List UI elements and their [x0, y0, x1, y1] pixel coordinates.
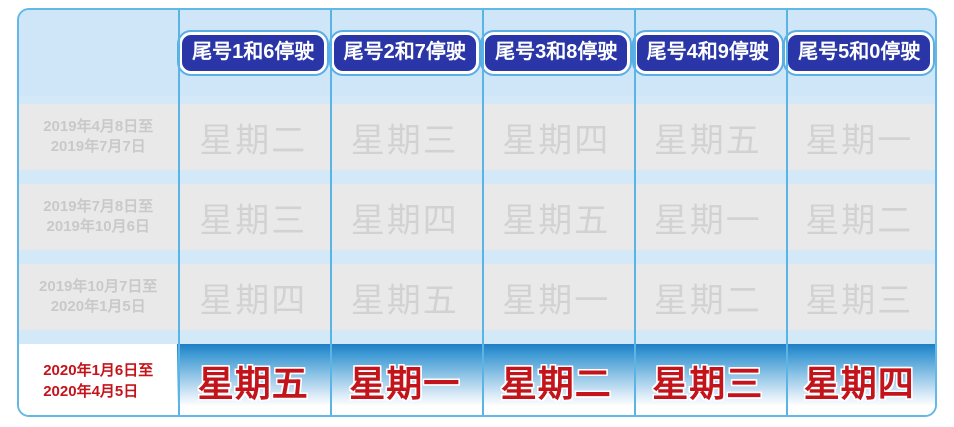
day-text: 星期四	[351, 193, 459, 242]
day-text: 星期三	[652, 355, 763, 407]
column-separator-2	[330, 10, 332, 417]
day-text: 星期二	[199, 113, 307, 162]
day-text: 星期一	[654, 193, 762, 242]
day-cell: 星期四	[177, 264, 329, 330]
row-period-cell: 2019年7月8日至 2019年10月6日	[19, 184, 177, 250]
day-text: 星期五	[654, 113, 762, 162]
day-text: 星期二	[654, 273, 762, 322]
day-cell: 星期五	[632, 104, 784, 170]
day-cell: 星期一	[632, 184, 784, 250]
day-text: 星期三	[199, 193, 307, 242]
day-cell: 星期二	[783, 184, 935, 250]
day-text: 星期四	[502, 113, 610, 162]
header-cell-group-5: 尾号5和0停驶	[783, 10, 935, 96]
day-text: 星期二	[501, 355, 612, 407]
day-text: 星期三	[805, 273, 913, 322]
row-period-text: 2020年1月6日至 2020年4月5日	[43, 360, 153, 402]
period-line-1: 2019年4月8日至	[43, 118, 153, 135]
day-cell: 星期三	[177, 184, 329, 250]
day-text: 星期一	[805, 113, 913, 162]
tail-number-badge-5[interactable]: 尾号5和0停驶	[785, 32, 933, 74]
day-text: 星期五	[198, 355, 309, 407]
day-cell: 星期一	[783, 104, 935, 170]
day-cell: 星期四	[329, 184, 481, 250]
day-cell: 星期二	[177, 104, 329, 170]
day-cell: 星期五	[329, 264, 481, 330]
day-text: 星期四	[199, 273, 307, 322]
period-line-1: 2020年1月6日至	[43, 362, 153, 379]
tail-number-badge-3[interactable]: 尾号3和8停驶	[482, 32, 630, 74]
day-cell-current: 星期五	[177, 344, 329, 417]
day-cell: 星期二	[632, 264, 784, 330]
table-row-current: 2020年1月6日至 2020年4月5日 星期五 星期一 星期二 星期三 星期四	[19, 344, 935, 417]
day-text: 星期二	[805, 193, 913, 242]
restriction-schedule-table: 尾号1和6停驶 尾号2和7停驶 尾号3和8停驶 尾号4和9停驶 尾号5和0停驶	[17, 8, 937, 417]
day-text: 星期五	[502, 193, 610, 242]
tail-number-badge-4[interactable]: 尾号4和9停驶	[634, 32, 782, 74]
header-cell-group-1: 尾号1和6停驶	[177, 10, 329, 96]
row-period-text: 2019年4月8日至 2019年7月7日	[43, 117, 153, 158]
row-period-cell-current: 2020年1月6日至 2020年4月5日	[19, 344, 177, 417]
day-cell: 星期一	[480, 264, 632, 330]
day-cell: 星期五	[480, 184, 632, 250]
screenshot-root: 尾号1和6停驶 尾号2和7停驶 尾号3和8停驶 尾号4和9停驶 尾号5和0停驶	[0, 0, 954, 427]
period-line-1: 2019年10月7日至	[39, 278, 157, 295]
column-separator-1	[178, 10, 180, 417]
day-text: 星期一	[349, 355, 460, 407]
header-cell-group-4: 尾号4和9停驶	[632, 10, 784, 96]
period-line-2: 2020年1月5日	[51, 298, 146, 315]
column-separator-5	[786, 10, 788, 417]
period-line-2: 2019年7月7日	[51, 138, 146, 155]
table-row: 2019年10月7日至 2020年1月5日 星期四 星期五 星期一 星期二 星期…	[19, 264, 935, 330]
table-row: 2019年7月8日至 2019年10月6日 星期三 星期四 星期五 星期一 星期…	[19, 184, 935, 250]
day-text: 星期三	[351, 113, 459, 162]
column-separator-3	[482, 10, 484, 417]
day-cell-current: 星期一	[329, 344, 481, 417]
period-line-1: 2019年7月8日至	[43, 198, 153, 215]
day-cell: 星期四	[480, 104, 632, 170]
day-cell-current: 星期三	[632, 344, 784, 417]
period-line-2: 2020年4月5日	[43, 383, 138, 400]
day-cell-current: 星期四	[783, 344, 935, 417]
row-period-text: 2019年7月8日至 2019年10月6日	[43, 197, 153, 238]
day-text: 星期四	[804, 355, 915, 407]
row-period-cell: 2019年10月7日至 2020年1月5日	[19, 264, 177, 330]
header-cell-group-3: 尾号3和8停驶	[480, 10, 632, 96]
period-line-2: 2019年10月6日	[47, 218, 150, 235]
table-row: 2019年4月8日至 2019年7月7日 星期二 星期三 星期四 星期五 星期一	[19, 104, 935, 170]
day-cell-current: 星期二	[480, 344, 632, 417]
row-period-text: 2019年10月7日至 2020年1月5日	[39, 277, 157, 318]
tail-number-badge-1[interactable]: 尾号1和6停驶	[179, 32, 327, 74]
day-cell: 星期三	[329, 104, 481, 170]
day-cell: 星期三	[783, 264, 935, 330]
header-cell-period	[19, 10, 177, 96]
day-text: 星期一	[502, 273, 610, 322]
table-header-row: 尾号1和6停驶 尾号2和7停驶 尾号3和8停驶 尾号4和9停驶 尾号5和0停驶	[19, 10, 935, 96]
day-text: 星期五	[351, 273, 459, 322]
column-separator-4	[634, 10, 636, 417]
header-cell-group-2: 尾号2和7停驶	[329, 10, 481, 96]
row-period-cell: 2019年4月8日至 2019年7月7日	[19, 104, 177, 170]
tail-number-badge-2[interactable]: 尾号2和7停驶	[331, 32, 479, 74]
